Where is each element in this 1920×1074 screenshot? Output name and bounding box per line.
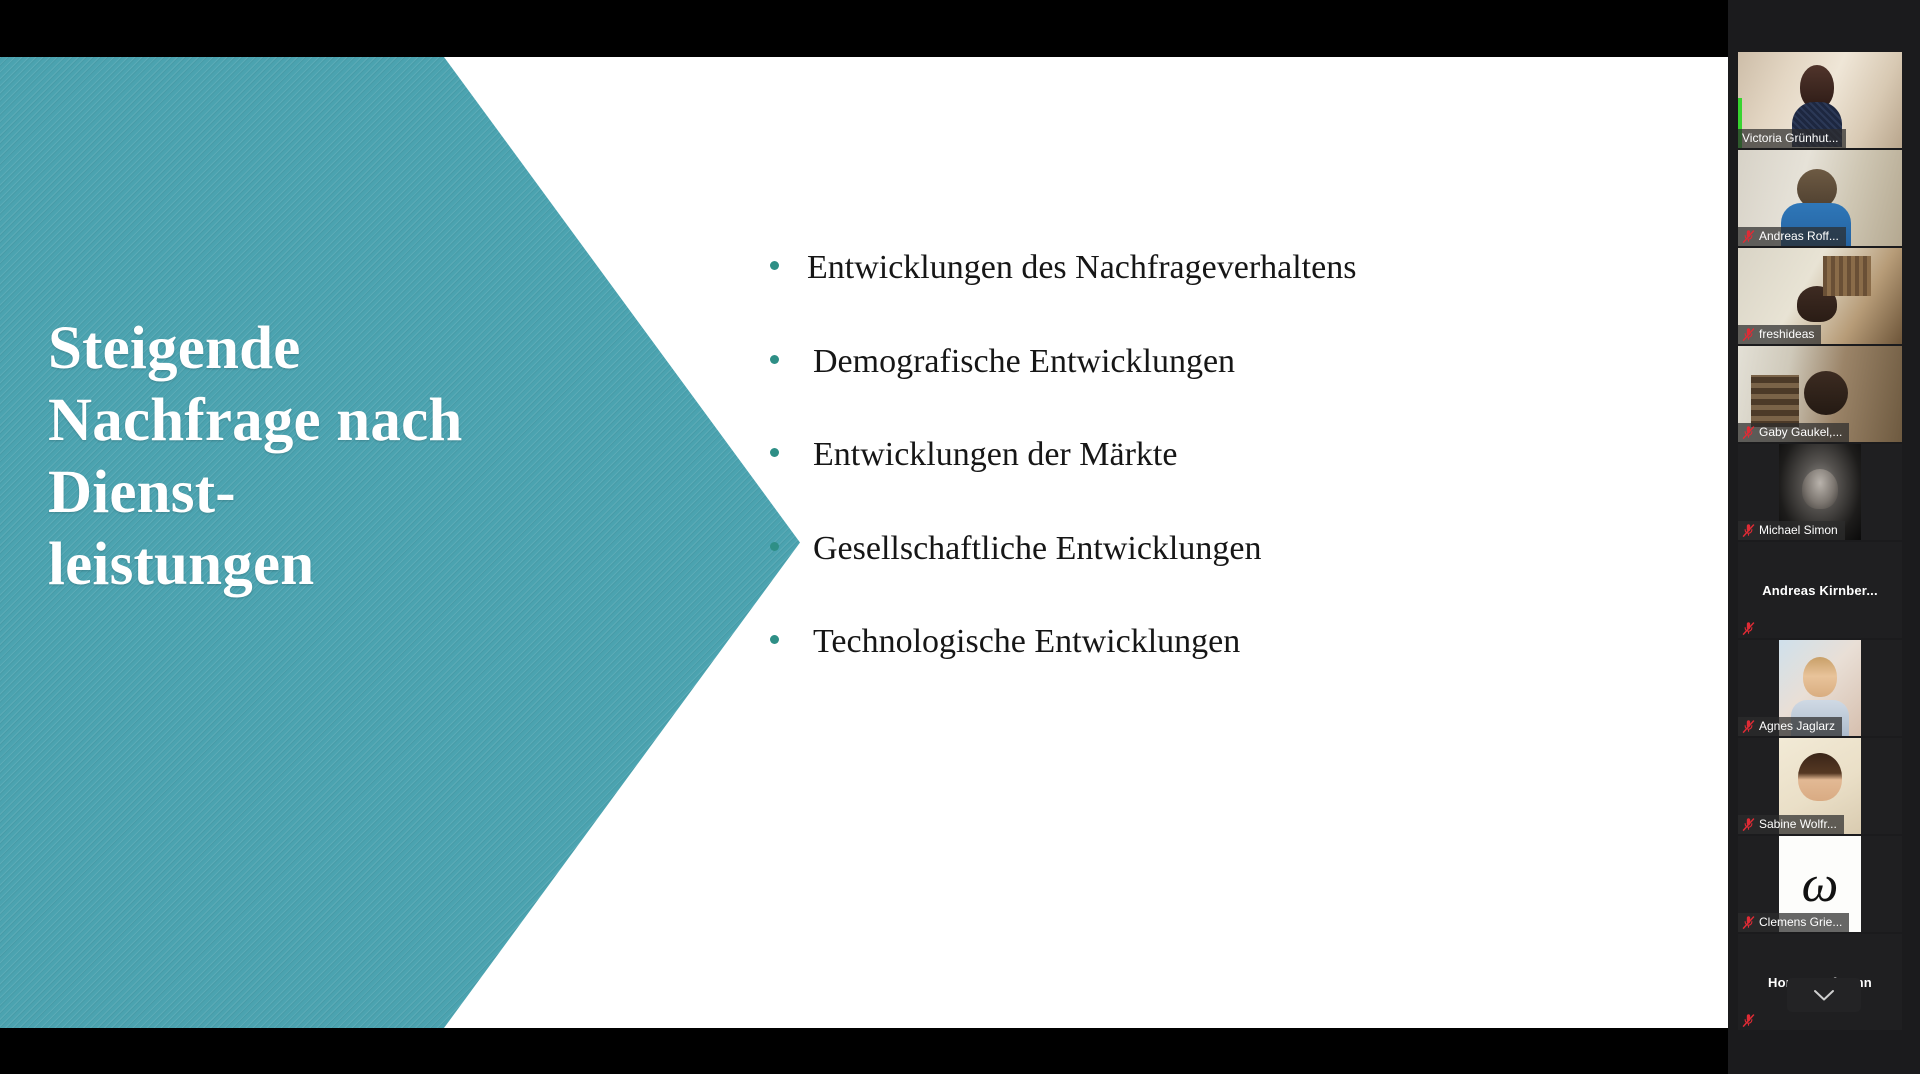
participant-name: Clemens Grie... bbox=[1759, 915, 1842, 930]
participant-mic-status bbox=[1738, 1011, 1759, 1030]
participant-tile[interactable]: freshideas bbox=[1738, 248, 1902, 344]
mic-muted-icon bbox=[1742, 425, 1755, 440]
participant-name: Michael Simon bbox=[1759, 523, 1838, 538]
mic-muted-icon bbox=[1742, 229, 1755, 244]
participant-name-badge: freshideas bbox=[1738, 325, 1821, 344]
participant-tile[interactable]: Andreas Kirnber... bbox=[1738, 542, 1902, 638]
mic-muted-icon bbox=[1742, 817, 1755, 832]
slide-bullet-text: Entwicklungen der Märkte bbox=[813, 434, 1630, 477]
participant-panel: Victoria Grünhut... Andreas Roff... bbox=[1728, 0, 1920, 1074]
participant-tile[interactable]: Sabine Wolfr... bbox=[1738, 738, 1902, 834]
mic-muted-icon bbox=[1742, 621, 1755, 636]
slide-bullet-item: Gesellschaftliche Entwicklungen bbox=[770, 528, 1630, 571]
presentation-slide: Steigende Nachfrage nach Dienst- leistun… bbox=[0, 57, 1728, 1028]
participant-name: Andreas Kirnber... bbox=[1762, 583, 1878, 598]
participant-name: Andreas Roff... bbox=[1759, 229, 1839, 244]
bullet-dot-icon bbox=[770, 635, 779, 644]
mic-muted-icon bbox=[1742, 523, 1755, 538]
slide-title: Steigende Nachfrage nach Dienst- leistun… bbox=[48, 313, 528, 601]
bullet-dot-icon bbox=[770, 261, 779, 270]
slide-bullet-text: Gesellschaftliche Entwicklungen bbox=[813, 528, 1630, 571]
bullet-dot-icon bbox=[770, 448, 779, 457]
participant-name-badge: Gaby Gaukel,... bbox=[1738, 423, 1849, 442]
mic-muted-icon bbox=[1742, 327, 1755, 342]
participant-name: Agnes Jaglarz bbox=[1759, 719, 1835, 734]
chevron-down-icon bbox=[1813, 989, 1835, 1002]
mic-muted-icon bbox=[1742, 1013, 1755, 1028]
shared-screen-region[interactable]: Steigende Nachfrage nach Dienst- leistun… bbox=[0, 0, 1728, 1074]
participant-tile-strip[interactable]: Victoria Grünhut... Andreas Roff... bbox=[1738, 52, 1908, 1032]
zoom-meeting-window: Steigende Nachfrage nach Dienst- leistun… bbox=[0, 0, 1920, 1074]
participant-name: Victoria Grünhut... bbox=[1742, 131, 1839, 146]
slide-bullet-item: Entwicklungen des Nachfrageverhaltens bbox=[770, 247, 1630, 290]
participant-name-badge: Agnes Jaglarz bbox=[1738, 717, 1842, 736]
slide-bullet-item: Technologische Entwicklungen bbox=[770, 621, 1630, 664]
participant-name-badge: Michael Simon bbox=[1738, 521, 1845, 540]
slide-bullet-text: Technologische Entwicklungen bbox=[813, 621, 1630, 664]
participant-tile[interactable]: Gaby Gaukel,... bbox=[1738, 346, 1902, 442]
participant-name-badge: Andreas Roff... bbox=[1738, 227, 1846, 246]
participant-name-badge: Clemens Grie... bbox=[1738, 913, 1849, 932]
mic-muted-icon bbox=[1742, 719, 1755, 734]
participant-name-badge: Victoria Grünhut... bbox=[1738, 129, 1846, 148]
bullet-dot-icon bbox=[770, 355, 779, 364]
participant-name: Gaby Gaukel,... bbox=[1759, 425, 1842, 440]
participant-name-badge: Sabine Wolfr... bbox=[1738, 815, 1844, 834]
participant-name: Sabine Wolfr... bbox=[1759, 817, 1837, 832]
participant-tile[interactable]: Victoria Grünhut... bbox=[1738, 52, 1902, 148]
bullet-dot-icon bbox=[770, 542, 779, 551]
participant-name-placeholder: Andreas Kirnber... bbox=[1738, 542, 1902, 638]
participant-tile[interactable]: ω Clemens Grie... bbox=[1738, 836, 1902, 932]
participant-tile[interactable]: Michael Simon bbox=[1738, 444, 1902, 540]
participant-mic-status bbox=[1738, 619, 1759, 638]
slide-bullet-list: Entwicklungen des Nachfrageverhaltens De… bbox=[770, 247, 1630, 715]
slide-bullet-text: Entwicklungen des Nachfrageverhaltens bbox=[807, 247, 1630, 290]
participant-tile[interactable]: Agnes Jaglarz bbox=[1738, 640, 1902, 736]
scroll-participants-down-button[interactable] bbox=[1787, 978, 1861, 1012]
participant-name: freshideas bbox=[1759, 327, 1814, 342]
slide-bullet-text: Demografische Entwicklungen bbox=[813, 341, 1630, 384]
slide-bullet-item: Entwicklungen der Märkte bbox=[770, 434, 1630, 477]
participant-tile[interactable]: Andreas Roff... bbox=[1738, 150, 1902, 246]
mic-muted-icon bbox=[1742, 915, 1755, 930]
slide-bullet-item: Demografische Entwicklungen bbox=[770, 341, 1630, 384]
